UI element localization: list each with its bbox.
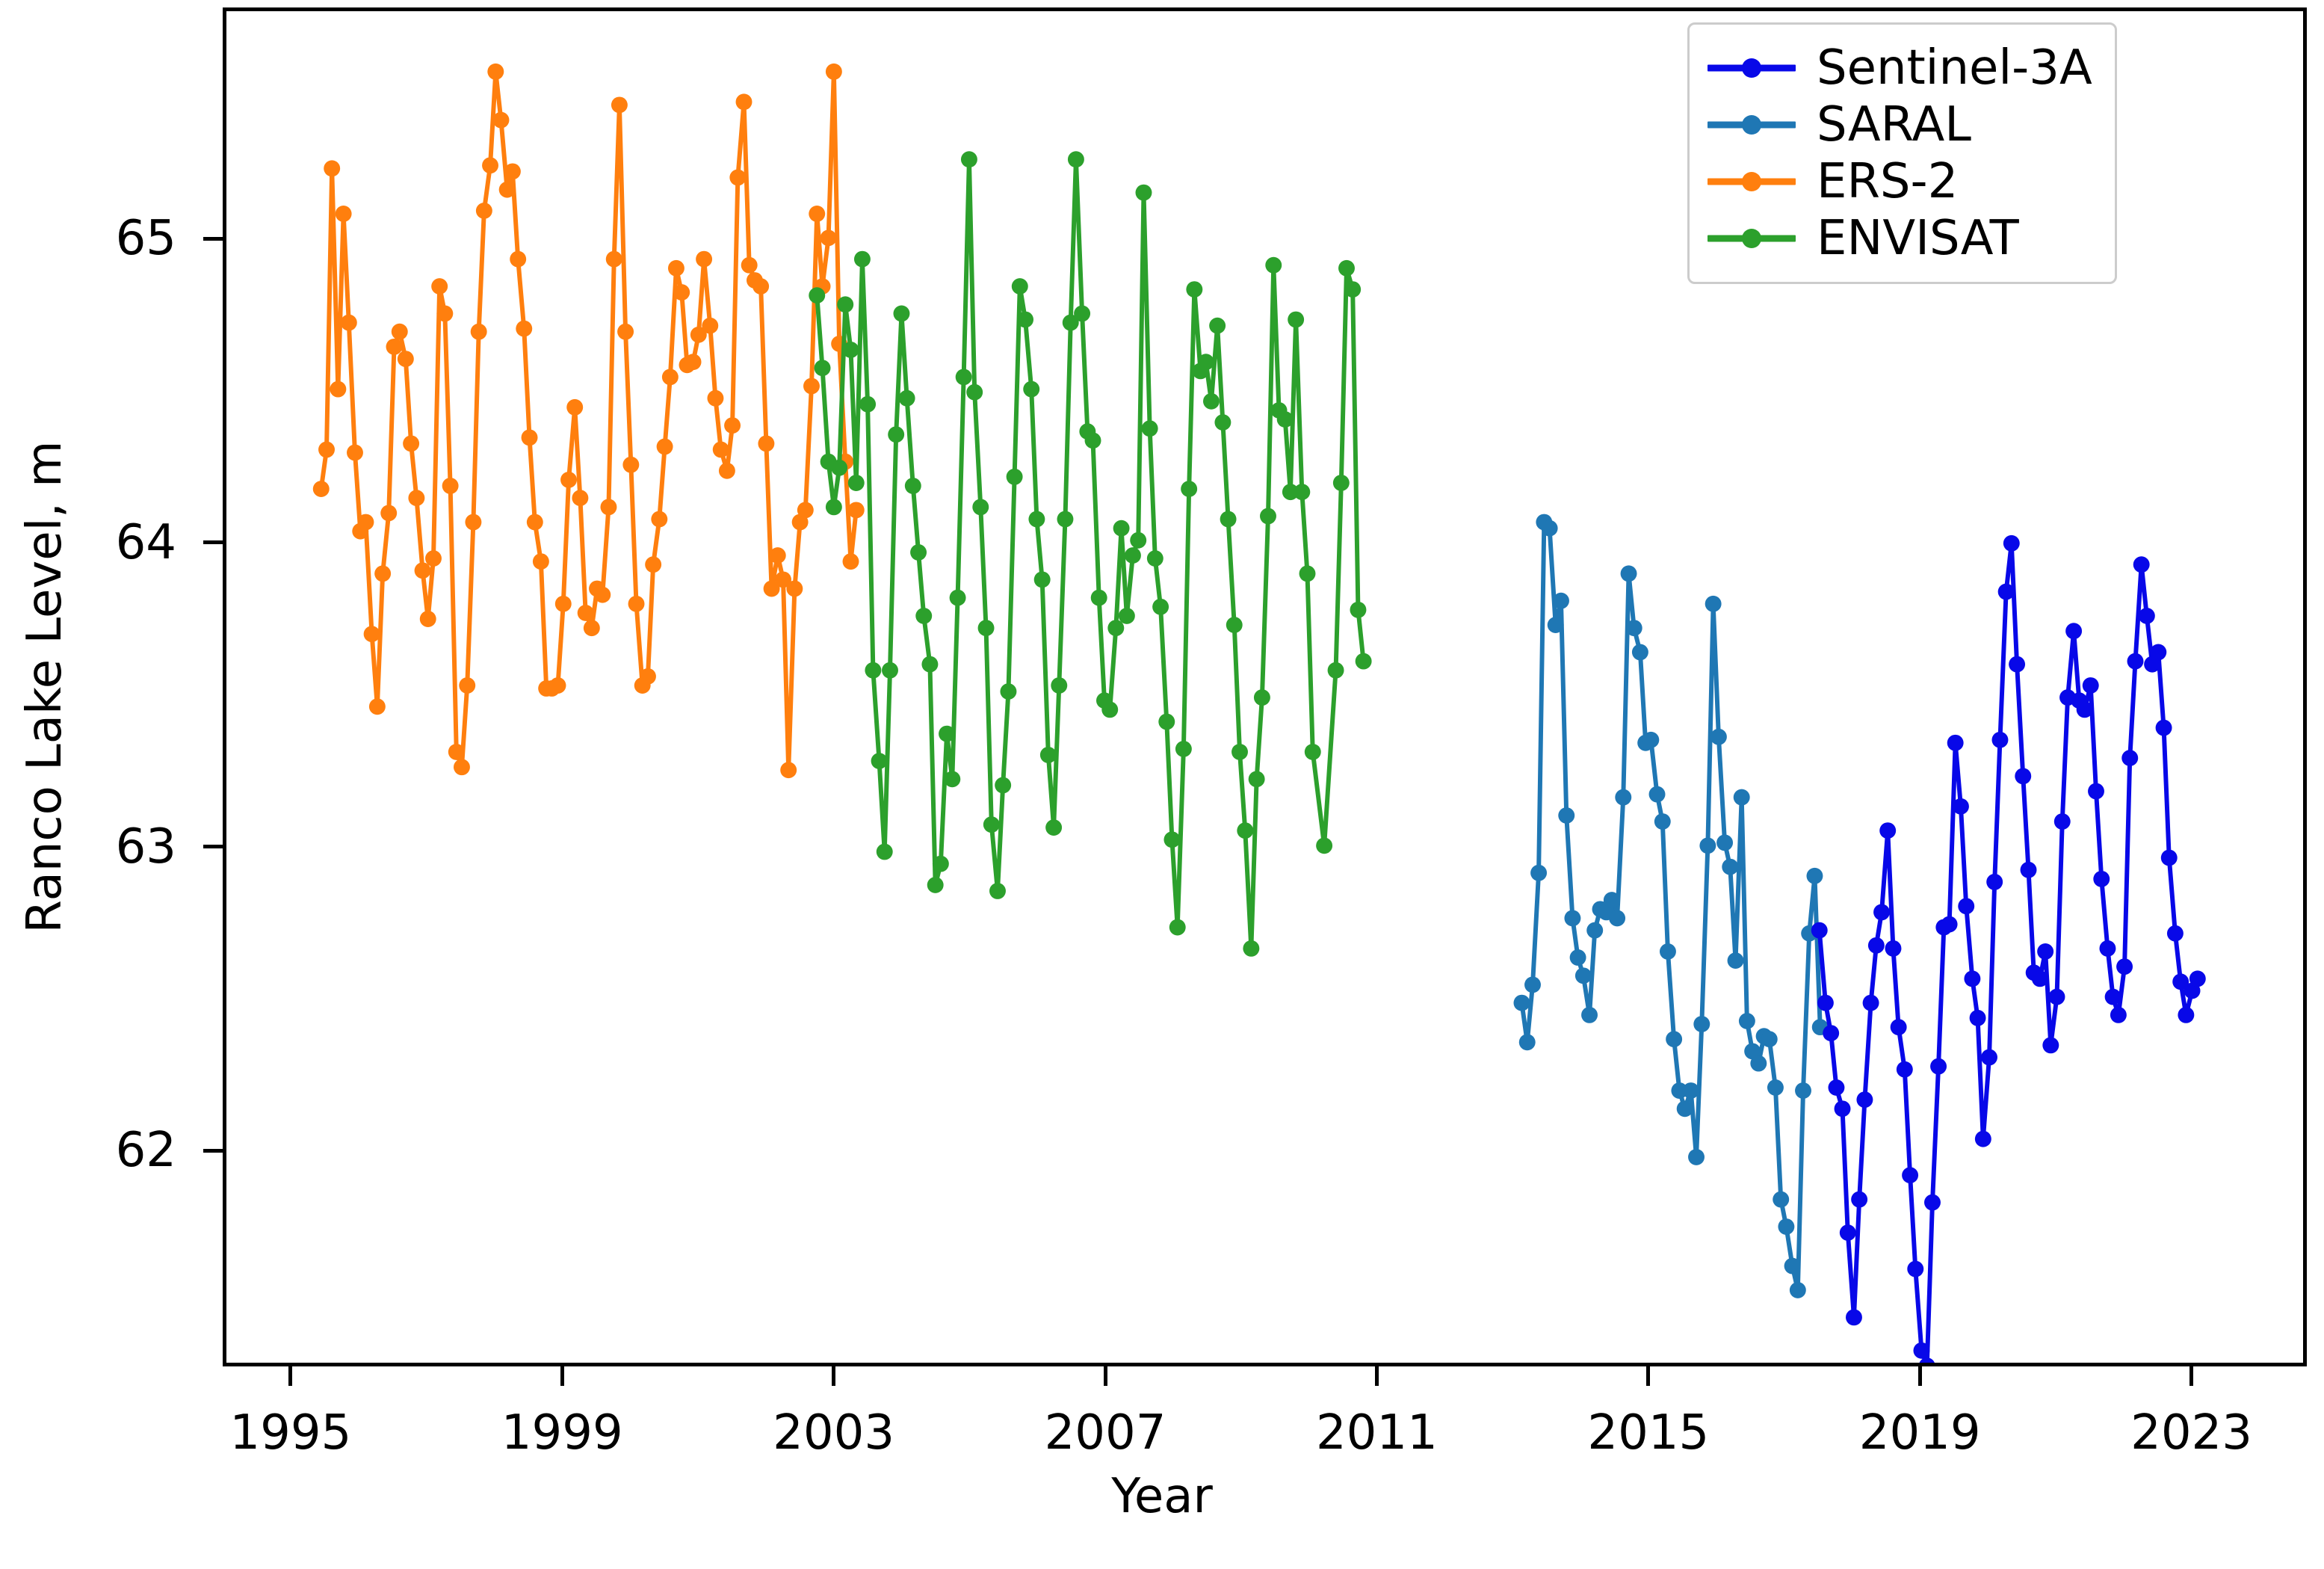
data-point [1907,1261,1923,1277]
data-point [1564,910,1580,926]
data-point [1231,744,1248,760]
data-point [797,502,814,518]
data-point [357,514,374,531]
data-point [2150,644,2166,661]
data-point [1356,653,1372,670]
data-point [504,163,521,179]
legend-swatch-icon [1708,173,1796,191]
data-point [719,463,735,479]
data-point [1710,729,1727,745]
data-point [696,251,712,268]
data-point [487,64,504,80]
data-point [436,306,453,322]
data-point [995,777,1011,794]
y-tick-mark [203,237,223,241]
data-point [1186,281,1202,298]
data-point [374,565,391,582]
data-point [1558,807,1574,824]
data-point [459,677,475,694]
data-point [1181,481,1197,497]
data-point [809,287,825,303]
data-point [770,547,786,564]
x-tick-mark [288,1366,292,1386]
data-point [1790,1282,1806,1298]
data-point [313,481,330,497]
data-point [1716,834,1733,851]
data-point [1683,1082,1699,1099]
legend-swatch-icon [1708,116,1796,134]
data-point [2139,608,2155,624]
data-point [1288,312,1304,328]
x-tick-mark [1104,1366,1107,1386]
x-axis-title: Year [0,1469,2324,1524]
data-point [1953,798,1969,815]
data-point [566,399,583,416]
data-point [1542,520,1558,537]
data-point [871,753,888,769]
data-point [1243,940,1259,957]
data-point [2133,556,2150,573]
data-point [572,490,588,506]
data-point [972,499,989,515]
y-tick-label: 63 [116,819,176,875]
data-point [2121,750,2138,766]
data-point [533,553,549,570]
data-point [516,321,532,337]
data-point [1254,689,1270,706]
data-point [1891,1019,1907,1035]
data-point [950,590,966,606]
data-point [1316,837,1332,854]
data-point [1101,701,1118,718]
data-point [324,160,340,176]
data-point [617,324,634,340]
data-point [1575,967,1592,984]
y-axis-tick-labels: 62636465 [0,0,223,1569]
data-point [2065,623,2082,639]
data-point [657,439,673,455]
data-point [1023,381,1039,398]
series-envisat [809,151,1371,957]
data-point [843,342,859,358]
data-point [2049,989,2065,1005]
data-point [1642,732,1659,748]
data-point [2021,862,2037,878]
data-point [1991,732,2008,748]
data-point [1817,995,1834,1011]
data-point [668,260,684,277]
data-point [1722,859,1738,875]
data-point [1299,565,1316,582]
data-point [2032,970,2048,987]
data-point [826,64,842,80]
data-point [1654,813,1671,830]
data-point [1152,599,1169,615]
data-point [527,514,543,531]
legend-label: Sentinel-3A [1817,44,2092,92]
legend-marker-icon [1742,172,1761,191]
data-point [454,759,470,775]
legend-label: SARAL [1817,101,1971,149]
legend-label: ENVISAT [1817,215,2019,262]
data-point [1198,354,1214,370]
data-point [1604,892,1620,908]
x-tick-label: 2011 [1316,1405,1438,1461]
data-point [1169,919,1186,936]
series-line [321,72,856,770]
data-point [989,883,1006,899]
data-point [1924,1195,1941,1211]
data-point [425,550,442,567]
data-point [1113,520,1130,537]
data-point [893,306,909,322]
data-point [341,315,357,331]
data-point [1851,1192,1867,1208]
data-point [1586,922,1603,939]
data-point [915,608,932,624]
x-tick-mark [1646,1366,1650,1386]
data-point [600,499,616,515]
legend-item-envisat[interactable]: ENVISAT [1708,210,2092,267]
chart-figure: Ranco Lake Level, m 62636465 19951999200… [0,0,2324,1569]
data-point [888,426,904,443]
data-point [1688,1149,1705,1165]
data-point [442,478,459,494]
data-point [983,816,1000,833]
x-tick-label: 2003 [773,1405,894,1461]
data-point [1040,747,1057,763]
x-tick-label: 2015 [1587,1405,1709,1461]
data-point [1795,1082,1811,1099]
data-point [1986,874,2003,890]
data-point [865,662,881,679]
data-point [877,844,893,860]
data-point [1007,469,1023,485]
data-point [1570,949,1586,966]
data-point [729,170,746,186]
data-point [1333,475,1350,491]
y-tick-label: 64 [116,515,176,570]
data-point [1068,151,1084,167]
data-point [1964,970,1980,987]
data-point [1632,644,1648,661]
data-point [1897,1061,1913,1078]
data-point [2161,850,2178,866]
data-point [707,390,723,407]
chart-legend: Sentinel-3ASARALERS-2ENVISAT [1687,22,2117,284]
data-point [1846,1309,1862,1325]
series-saral [1514,514,1829,1298]
data-point [330,381,346,398]
data-point [398,351,414,367]
data-point [1975,1131,1991,1147]
data-point [493,112,510,129]
data-point [927,877,944,893]
data-point [1028,511,1045,528]
data-point [499,182,516,198]
data-point [1998,584,2015,600]
data-point [1840,1224,1856,1241]
data-point [1981,1049,1997,1066]
y-tick-mark [203,540,223,544]
data-point [1739,1013,1755,1029]
data-point [882,662,898,679]
data-point [2009,656,2025,673]
series-line [1521,523,1820,1290]
legend-label: ERS-2 [1817,158,1958,206]
data-point [1530,865,1547,881]
data-point [1147,550,1163,567]
data-point [1806,868,1823,884]
data-point [651,511,667,528]
data-point [1811,922,1828,939]
data-point [318,442,335,458]
data-point [1693,1016,1710,1032]
legend-marker-icon [1742,115,1761,135]
data-point [1017,312,1033,328]
data-point [369,698,386,715]
data-point [408,490,424,506]
data-point [1705,596,1722,612]
data-point [685,354,702,370]
data-point [550,677,566,694]
data-point [465,514,481,531]
data-point [347,445,363,461]
data-point [843,553,859,570]
data-point [978,620,995,636]
data-point [2003,535,2020,552]
data-point [702,318,718,334]
data-point [594,587,611,603]
data-point [2054,813,2071,830]
data-point [831,460,847,476]
data-point [673,284,690,300]
data-point [1615,789,1631,806]
data-point [1699,837,1716,854]
data-point [1761,1031,1778,1047]
data-point [1621,565,1637,582]
data-point [736,93,752,110]
data-point [476,203,492,219]
data-point [1125,547,1141,564]
data-point [2167,925,2184,942]
y-tick-mark [203,1149,223,1153]
data-point [848,475,865,491]
data-point [1350,602,1366,618]
data-point [837,296,853,312]
data-point [1868,937,1885,954]
data-point [1045,819,1062,836]
data-point [752,278,769,295]
data-point [622,457,639,473]
data-point [1879,822,1896,839]
data-point [820,229,837,246]
data-point [758,435,774,451]
legend-marker-icon [1742,58,1761,78]
data-point [1941,916,1958,933]
data-point [854,251,871,268]
data-point [1626,620,1642,636]
data-point [1524,976,1541,993]
data-point [380,505,397,521]
data-point [336,206,352,222]
data-point [645,556,661,573]
data-point [966,384,983,401]
data-point [628,596,645,612]
data-point [1958,898,1974,914]
data-point [1034,571,1051,588]
series-sentinel-3a [1811,535,2206,1363]
data-point [1214,414,1231,431]
data-point [1012,278,1028,295]
data-point [1856,1091,1873,1108]
x-tick-mark [1918,1366,1922,1386]
data-point [2083,677,2099,694]
data-point [403,435,419,451]
data-point [1649,786,1666,803]
data-point [1835,1100,1851,1117]
x-tick-label: 2019 [1859,1405,1981,1461]
data-point [2042,1037,2059,1053]
data-point [1328,662,1344,679]
data-point [522,429,538,446]
data-point [1142,420,1158,437]
data-point [848,502,865,518]
data-point [471,324,487,340]
data-point [1823,1025,1839,1041]
data-point [1885,940,1902,957]
data-point [1249,771,1265,787]
data-point [1913,1343,1929,1359]
x-tick-mark [2189,1366,2193,1386]
data-point [611,96,628,113]
x-tick-label: 1995 [229,1405,351,1461]
data-point [1734,789,1750,806]
legend-swatch-icon [1708,229,1796,247]
legend-item-sentinel-3a[interactable]: Sentinel-3A [1708,40,2092,96]
data-point [1051,677,1067,694]
x-tick-label: 2007 [1045,1405,1166,1461]
data-point [1514,995,1530,1011]
data-point [662,369,679,385]
data-point [1784,1258,1801,1274]
data-point [1237,822,1253,839]
data-point [1344,281,1361,298]
data-point [386,339,403,355]
data-point [2093,871,2110,887]
legend-marker-icon [1742,229,1761,248]
data-point [1226,617,1243,633]
data-point [1294,484,1310,500]
data-point [1519,1034,1536,1050]
x-tick-mark [1375,1366,1379,1386]
data-point [1548,617,1564,633]
x-tick-label: 1999 [501,1405,623,1461]
data-point [1778,1218,1794,1235]
data-point [1085,432,1101,448]
data-point [2116,958,2133,975]
data-point [2088,783,2104,800]
data-point [741,257,758,274]
data-point [2037,943,2053,960]
data-point [1163,831,1180,848]
data-point [2156,720,2172,736]
x-tick-label: 2023 [2130,1405,2252,1461]
x-tick-mark [560,1366,564,1386]
data-point [364,626,380,642]
data-point [555,596,572,612]
data-point [859,396,876,413]
data-point [1074,306,1090,322]
data-point [910,544,927,561]
data-point [584,620,600,636]
data-point [1260,508,1276,525]
data-point [905,478,921,494]
data-point [1666,1031,1682,1047]
data-point [1107,620,1124,636]
data-point [1677,1100,1693,1117]
data-point [2110,1007,2127,1023]
data-point [1773,1192,1789,1208]
data-point [724,417,741,434]
data-point [431,278,448,295]
data-point [2189,970,2206,987]
data-point [1863,995,1879,1011]
data-point [2105,989,2121,1005]
data-point [1305,744,1321,760]
data-point [1581,1007,1598,1023]
data-point [921,656,938,673]
data-point [815,360,831,376]
data-point [2077,701,2093,718]
data-point [786,581,803,597]
data-point [510,251,526,268]
series-line [817,159,1363,949]
data-point [640,668,656,685]
y-tick-label: 62 [116,1123,176,1178]
legend-item-saral[interactable]: SARAL [1708,96,2092,153]
data-point [1209,318,1226,334]
x-axis-tick-labels: 19951999200320072011201520192023 [0,1366,2324,1569]
data-point [826,499,842,515]
legend-swatch-icon [1708,59,1796,77]
y-tick-mark [203,845,223,848]
data-point [1750,1055,1767,1072]
data-point [606,251,622,268]
data-point [1660,943,1676,960]
data-point [1158,714,1175,730]
data-point [392,324,408,340]
legend-item-ers-2[interactable]: ERS-2 [1708,153,2092,210]
y-tick-label: 65 [116,211,176,266]
data-point [1136,185,1152,201]
data-point [1203,393,1220,410]
data-point [713,442,729,458]
data-point [1873,904,1890,920]
data-point [1930,1058,1947,1075]
data-point [2099,940,2116,957]
data-point [1828,1079,1844,1096]
data-point [482,157,498,173]
data-point [560,472,577,488]
data-point [2127,653,2144,670]
data-point [899,390,915,407]
data-point [944,771,960,787]
data-point [1000,683,1016,700]
data-point [961,151,977,167]
data-point [1277,411,1294,428]
data-point [1265,257,1282,274]
